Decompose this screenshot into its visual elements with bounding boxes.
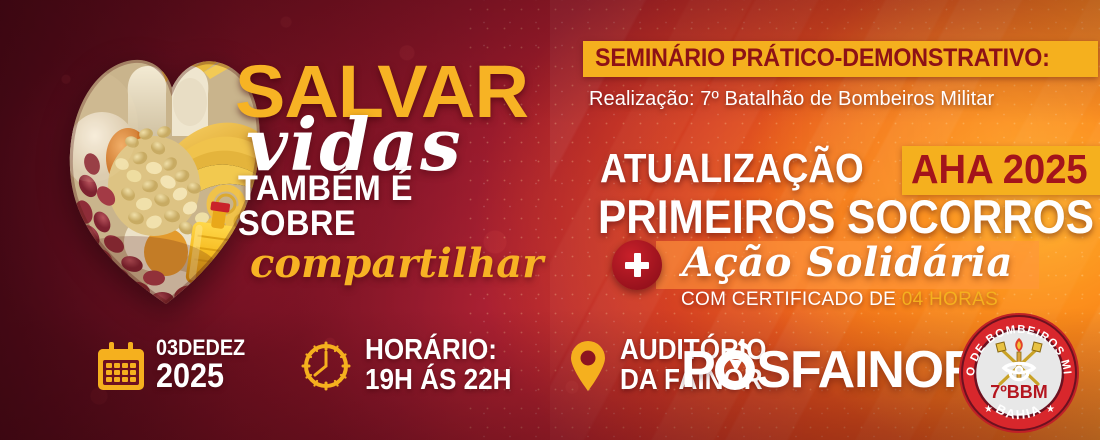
badge-star-right: ★ bbox=[1046, 404, 1055, 415]
certificate-hours: 04 HORAS bbox=[902, 289, 998, 310]
clock-icon bbox=[299, 339, 353, 393]
title-primeiros-socorros: PRIMEIROS SOCORROS bbox=[598, 193, 1094, 240]
date-year: 2025 bbox=[156, 359, 245, 394]
posfainor-fainor: FAINOR bbox=[790, 344, 979, 396]
time-text: HORÁRIO: 19H ÁS 22H bbox=[365, 336, 512, 395]
campaign-headline: SALVAR vidas TAMBÉM É SOBRE compartilhar bbox=[238, 62, 538, 285]
headline-compartilhar: compartilhar bbox=[250, 243, 538, 285]
posfainor-logo: P S FAINOR ® bbox=[681, 344, 993, 396]
solidarity-row: Ação Solidária bbox=[612, 240, 1039, 290]
headline-tambem: TAMBÉM bbox=[238, 169, 381, 208]
time-label: HORÁRIO: bbox=[365, 336, 512, 366]
badge-center-label: 7ºBBM bbox=[990, 382, 1048, 402]
seminar-label-box: SEMINÁRIO PRÁTICO-DEMONSTRATIVO: bbox=[583, 41, 1098, 77]
info-item-time: HORÁRIO: 19H ÁS 22H bbox=[299, 336, 528, 395]
aha-badge-label: AHA 2025 bbox=[911, 149, 1088, 190]
organizer-line: Realização: 7º Batalhão de Bombeiros Mil… bbox=[589, 88, 994, 111]
title-first-line: ATUALIZAÇÃO AHA 2025 bbox=[600, 148, 1100, 195]
posfainor-s: S bbox=[756, 344, 789, 396]
date-text: 03DEDEZ 2025 bbox=[156, 337, 245, 394]
aha-badge: AHA 2025 bbox=[902, 146, 1100, 195]
location-pin-icon bbox=[568, 340, 608, 392]
posfainor-wordmark: P S FAINOR bbox=[681, 344, 979, 396]
solidarity-bar: Ação Solidária bbox=[656, 241, 1039, 289]
badge-star-left: ★ bbox=[984, 404, 993, 415]
seminar-label: SEMINÁRIO PRÁTICO-DEMONSTRATIVO: bbox=[595, 46, 1050, 71]
solidarity-label: Ação Solidária bbox=[682, 243, 1013, 283]
plus-icon bbox=[612, 240, 662, 290]
calendar-icon bbox=[98, 342, 144, 390]
event-info-bar: 03DEDEZ 2025 bbox=[98, 336, 783, 395]
date-day-month: 03DEDEZ bbox=[156, 337, 245, 359]
title-atualizacao: ATUALIZAÇÃO bbox=[600, 148, 864, 189]
certificate-prefix: COM CERTIFICADO DE bbox=[681, 289, 896, 310]
posfainor-p: P bbox=[681, 344, 714, 396]
certificate-line: COM CERTIFICADO DE 04 HORAS bbox=[681, 289, 998, 311]
headline-vidas: vidas bbox=[246, 113, 538, 178]
event-banner: SALVAR vidas TAMBÉM É SOBRE compartilhar… bbox=[0, 0, 1100, 440]
posfainor-o-mark bbox=[715, 350, 755, 390]
info-item-date: 03DEDEZ 2025 bbox=[98, 337, 255, 394]
cbm-bahia-badge: CORPO DE BOMBEIROS MILITAR BAHIA ★ ★ 7ºB… bbox=[958, 312, 1080, 434]
time-value: 19H ÁS 22H bbox=[365, 366, 512, 396]
headline-tambem-e-sobre: TAMBÉM É SOBRE bbox=[238, 171, 517, 241]
